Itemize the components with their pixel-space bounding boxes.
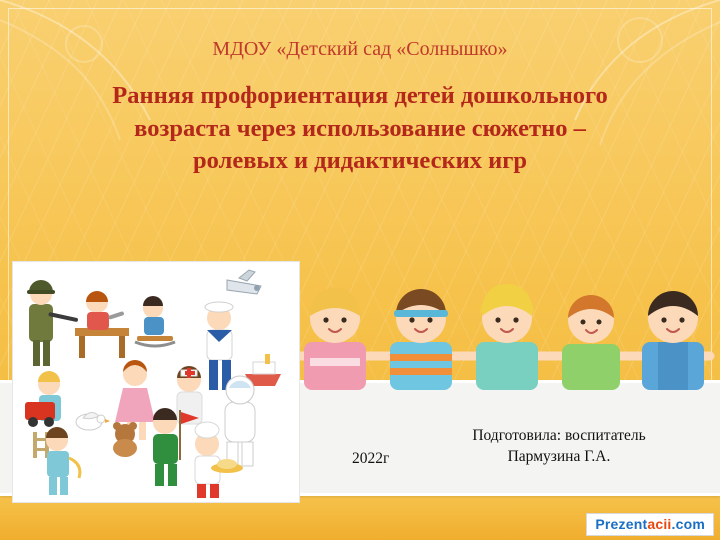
- children-holding-hands-icon: [280, 280, 720, 392]
- page-title: Ранняя профориентация детей дошкольного …: [95, 80, 625, 178]
- watermark-prezentacii[interactable]: Prezentacii.com: [586, 513, 714, 536]
- child-2: [390, 289, 452, 390]
- children-illustration: [280, 280, 720, 390]
- watermark-part-2: acii: [647, 516, 671, 532]
- year-label: 2022г: [352, 450, 389, 468]
- author-block: Подготовила: воспитатель Пармузина Г.А.: [434, 426, 684, 468]
- child-1: [304, 288, 366, 390]
- presentation-slide: МДОУ «Детский сад «Солнышко» Ранняя проф…: [0, 0, 720, 540]
- organization-title: МДОУ «Детский сад «Солнышко»: [0, 38, 720, 61]
- child-5: [642, 291, 704, 390]
- collage-illustration: [13, 262, 299, 502]
- author-role: Подготовила: воспитатель: [434, 426, 684, 447]
- watermark-part-3: .com: [672, 516, 705, 532]
- author-name: Пармузина Г.А.: [434, 447, 684, 468]
- professions-collage-image: [12, 261, 300, 503]
- watermark-part-1: Prezent: [595, 516, 647, 532]
- child-4: [562, 295, 620, 390]
- child-3: [476, 284, 538, 390]
